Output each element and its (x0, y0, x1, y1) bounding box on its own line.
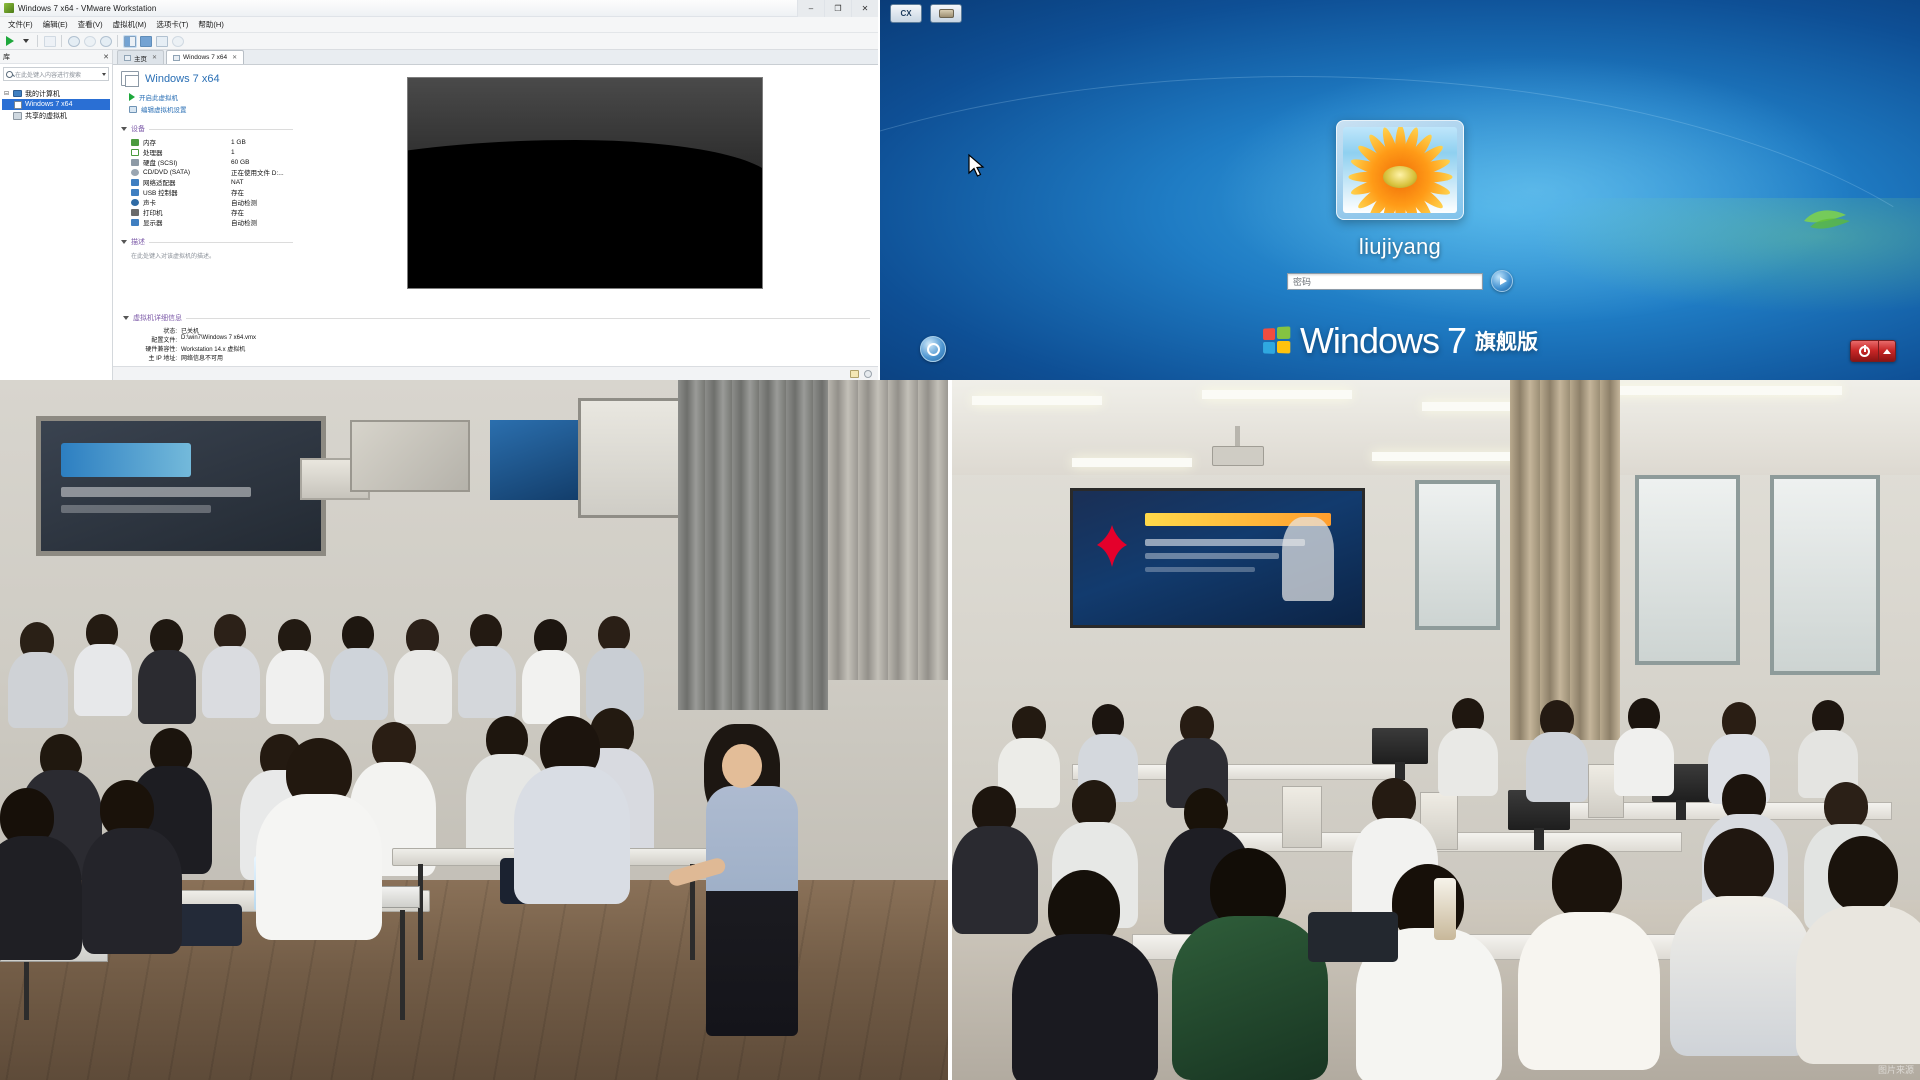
desk-leg (418, 864, 423, 960)
devices-section-header[interactable]: 设备 (121, 124, 293, 134)
lab-window (1635, 475, 1740, 665)
mouse-pointer-cursor (967, 153, 987, 181)
device-row[interactable]: 显示器 自动检测 (121, 217, 293, 227)
close-icon[interactable]: ✕ (103, 53, 109, 61)
menu-edit[interactable]: 编辑(E) (38, 17, 73, 33)
library-header: 库 ✕ (0, 50, 112, 64)
tab-close-icon[interactable]: ✕ (232, 54, 237, 61)
vm-summary-left-column: Windows 7 x64 开启此虚拟机 编辑虚拟机设置 (121, 71, 299, 301)
dropdown-caret-icon[interactable] (18, 34, 33, 48)
window-title: Windows 7 x64 - VMware Workstation (18, 4, 156, 13)
tool-bar (0, 33, 878, 50)
screen-text-line (1145, 553, 1279, 559)
detail-value: Workstation 14.x 虚拟机 (181, 344, 245, 353)
ease-of-access-button[interactable] (920, 336, 946, 362)
revert-snapshot-icon[interactable] (66, 34, 81, 48)
usb-icon (131, 189, 139, 196)
window-curtain (1510, 380, 1620, 740)
student-body (514, 766, 630, 904)
device-name: USB 控制器 (143, 187, 231, 197)
menu-bar: 文件(F) 编辑(E) 查看(V) 虚拟机(M) 选项卡(T) 帮助(H) (0, 17, 878, 33)
device-row[interactable]: USB 控制器 存在 (121, 187, 293, 197)
ease-of-access-icon (927, 343, 940, 356)
projector-mount (1235, 426, 1240, 448)
device-value: 存在 (231, 207, 293, 217)
huawei-logo-icon (1087, 521, 1137, 571)
library-search[interactable]: 在此处键入内容进行搜索 (3, 67, 109, 81)
divider (186, 318, 870, 319)
windows-wordmark: Windows (1300, 320, 1439, 362)
tree-item-label: 共享的虚拟机 (25, 111, 67, 121)
toolbar-divider (61, 35, 62, 47)
vmware-icon (4, 3, 14, 13)
student-body (0, 836, 82, 960)
username-label: liujiyang (1359, 234, 1441, 260)
monitor (1372, 728, 1428, 764)
password-row: 密码 (1287, 270, 1513, 292)
vm-preview-column (299, 71, 870, 301)
student-body (256, 794, 382, 940)
device-row[interactable]: 硬盘 (SCSI) 60 GB (121, 157, 293, 167)
tree-item-label: Windows 7 x64 (25, 101, 72, 108)
sound-icon (131, 199, 139, 206)
network-icon (131, 179, 139, 186)
home-icon (124, 55, 131, 61)
screen-speaker-image (1282, 517, 1334, 601)
toolbar-divider (37, 35, 38, 47)
search-icon (6, 71, 13, 78)
action-label: 编辑虚拟机设置 (141, 104, 187, 114)
search-input[interactable]: 在此处键入内容进行搜索 (15, 70, 100, 79)
go-arrow-icon (1500, 277, 1507, 285)
pc-tower (1282, 786, 1322, 848)
tree-item-my-computer[interactable]: ⊟ 我的计算机 (2, 88, 110, 99)
device-value: 存在 (231, 187, 293, 197)
device-value: 正在使用文件 D:... (231, 167, 293, 177)
detail-value: D:\win7\Windows 7 x64.vmx (181, 335, 256, 344)
tab-close-icon[interactable]: ✕ (152, 54, 157, 61)
preview-black-area (408, 170, 762, 288)
description-input[interactable]: 在此处键入对该虚拟机的描述。 (121, 251, 293, 260)
close-button[interactable]: ✕ (851, 0, 878, 17)
show-library-icon[interactable] (122, 34, 137, 48)
device-name: 显示器 (143, 217, 231, 227)
detail-row-ip: 主 IP 地址: 网络信息不可用 (123, 353, 870, 362)
vm-console-toolbar: CX (890, 4, 962, 23)
submit-login-button[interactable] (1491, 270, 1513, 292)
drink-cup (1434, 878, 1456, 940)
ceiling-light (1072, 458, 1192, 467)
device-name: 硬盘 (SCSI) (143, 157, 231, 167)
menu-help[interactable]: 帮助(H) (193, 17, 228, 33)
instructor-face (722, 744, 762, 788)
lab-window (1770, 475, 1880, 675)
vmware-workstation-window: Windows 7 x64 - VMware Workstation – ❐ ✕… (0, 0, 880, 380)
expander-icon[interactable]: ⊟ (4, 90, 10, 97)
monitor-stand (1534, 828, 1544, 850)
page-title: Windows 7 x64 (145, 73, 220, 85)
detail-value: 已关机 (181, 326, 199, 335)
device-value: NAT (231, 179, 293, 186)
classroom-lecture-photo (0, 380, 952, 1080)
maximize-button[interactable]: ❐ (824, 0, 851, 17)
description-section: 描述 在此处键入对该虚拟机的描述。 (121, 237, 293, 260)
collage-page: Windows 7 x64 - VMware Workstation – ❐ ✕… (0, 0, 1920, 1080)
section-title: 描述 (131, 237, 145, 247)
vm-heading: Windows 7 x64 (121, 71, 293, 86)
lab-window (1415, 480, 1500, 630)
device-row[interactable]: 网络适配器 NAT (121, 177, 293, 187)
vm-icon (14, 101, 22, 109)
harddisk-icon (131, 159, 139, 166)
vm-icon (173, 55, 180, 61)
keyboard-button[interactable] (930, 4, 962, 23)
detail-label: 状态: (123, 326, 181, 335)
minimize-button[interactable]: – (797, 0, 824, 17)
chevron-down-icon[interactable] (121, 240, 127, 244)
display-icon (131, 219, 139, 226)
monitor-stand (1676, 800, 1686, 820)
password-input[interactable]: 密码 (1287, 273, 1483, 290)
avatar[interactable] (1336, 120, 1464, 220)
library-title: 库 (3, 52, 10, 62)
vm-summary-view: Windows 7 x64 开启此虚拟机 编辑虚拟机设置 (113, 65, 878, 307)
tab-label: 主页 (134, 53, 147, 63)
fullscreen-icon[interactable] (154, 34, 169, 48)
watermark: 图片来源 (1878, 1063, 1914, 1076)
ceiling-light (1202, 390, 1352, 399)
section-title: 虚拟机详细信息 (133, 313, 182, 323)
tree-item-label: 我的计算机 (25, 89, 60, 99)
unity-icon[interactable] (170, 34, 185, 48)
windows7-login-screen: CX (880, 0, 1920, 380)
ceiling-light (1612, 386, 1842, 395)
backpack (1308, 912, 1398, 962)
student-body (82, 828, 182, 954)
device-value: 1 (231, 149, 293, 156)
desk-leg (400, 910, 405, 1020)
description-section-header[interactable]: 描述 (121, 237, 293, 247)
detail-row-hw-compat: 硬件兼容性: Workstation 14.x 虚拟机 (123, 344, 870, 353)
device-row[interactable]: 打印机 存在 (121, 207, 293, 217)
cpu-icon (131, 149, 139, 156)
console-view-icon[interactable] (138, 34, 153, 48)
tree-item-shared-vms[interactable]: 共享的虚拟机 (2, 110, 110, 121)
detail-row-config-file: 配置文件: D:\win7\Windows 7 x64.vmx (123, 335, 870, 344)
devices-section: 设备 内存 1 GB 处理器 1 (121, 124, 293, 227)
vmware-main-pane: 主页 ✕ Windows 7 x64 ✕ Windows 7 x64 (113, 50, 878, 380)
vmware-title-bar: Windows 7 x64 - VMware Workstation – ❐ ✕ (0, 0, 878, 17)
edit-vm-settings-link[interactable]: 编辑虚拟机设置 (129, 104, 293, 114)
device-name: 内存 (143, 137, 231, 147)
device-name: 声卡 (143, 197, 231, 207)
details-section-header[interactable]: 虚拟机详细信息 (123, 313, 870, 323)
device-name: 打印机 (143, 207, 231, 217)
section-title: 设备 (131, 124, 145, 134)
vm-details-section: 虚拟机详细信息 状态: 已关机 配置文件: D:\win7\Windows 7 … (113, 313, 878, 366)
chevron-down-icon[interactable] (121, 127, 127, 131)
detail-label: 硬件兼容性: (123, 344, 181, 353)
device-value: 自动检测 (231, 217, 293, 227)
detail-label: 配置文件: (123, 335, 181, 344)
divider (149, 129, 293, 130)
windows-branding: Windows 7 旗舰版 (880, 320, 1920, 362)
chevron-down-icon[interactable] (102, 73, 106, 76)
chevron-down-icon[interactable] (123, 316, 129, 320)
window-controls: – ❐ ✕ (797, 0, 878, 17)
device-row[interactable]: 声卡 自动检测 (121, 197, 293, 207)
ctrl-alt-del-button[interactable]: CX (890, 4, 922, 23)
windows-edition: 旗舰版 (1475, 326, 1538, 356)
board-text-line (61, 487, 251, 497)
library-pane: 库 ✕ 在此处键入内容进行搜索 ⊟ 我的计算机 Win (0, 50, 113, 380)
classroom-display-board (36, 416, 326, 556)
tab-home[interactable]: 主页 ✕ (117, 50, 164, 64)
cd-icon (131, 169, 139, 176)
windows-version: 7 (1447, 320, 1467, 362)
instructor-body (706, 786, 798, 1036)
device-name: CD/DVD (SATA) (143, 169, 231, 176)
take-snapshot-icon[interactable] (82, 34, 97, 48)
ceiling-projector (1212, 446, 1264, 466)
ceiling-light (972, 396, 1102, 405)
status-bar (113, 366, 878, 380)
shared-vm-icon (13, 112, 22, 120)
vm-icon (121, 71, 139, 86)
toolbar-divider (117, 35, 118, 47)
divider (149, 242, 293, 243)
detail-label: 主 IP 地址: (123, 353, 181, 362)
menu-tabs[interactable]: 选项卡(T) (151, 17, 193, 33)
device-name: 处理器 (143, 147, 231, 157)
board-text-line (61, 505, 211, 513)
photo-row (0, 380, 1920, 1080)
tab-windows7-x64[interactable]: Windows 7 x64 ✕ (166, 50, 244, 64)
wall-poster (350, 420, 470, 492)
device-value: 自动检测 (231, 197, 293, 207)
message-log-icon[interactable] (850, 370, 859, 378)
menu-file[interactable]: 文件(F) (3, 17, 38, 33)
device-value: 1 GB (231, 139, 293, 146)
device-row[interactable]: CD/DVD (SATA) 正在使用文件 D:... (121, 167, 293, 177)
windows-flag-logo (1263, 326, 1292, 356)
computer-icon (13, 90, 22, 97)
menu-view[interactable]: 查看(V) (73, 17, 108, 33)
settings-icon (129, 106, 137, 113)
device-value: 60 GB (231, 159, 293, 166)
screen-text-line (1145, 539, 1305, 546)
play-icon[interactable] (2, 34, 17, 48)
detail-value: 网络信息不可用 (181, 353, 223, 362)
orange-gerbera-flower-avatar (1343, 127, 1457, 213)
tree-item-windows7-x64[interactable]: Windows 7 x64 (2, 99, 110, 110)
tab-bar: 主页 ✕ Windows 7 x64 ✕ (113, 50, 878, 65)
device-name: 网络适配器 (143, 177, 231, 187)
power-on-vm-link[interactable]: 开启此虚拟机 (129, 92, 293, 102)
snapshot-manager-icon[interactable] (98, 34, 113, 48)
action-label: 开启此虚拟机 (139, 92, 178, 102)
updates-icon[interactable] (864, 370, 872, 378)
flower-center (1383, 166, 1417, 188)
tab-label: Windows 7 x64 (183, 54, 227, 61)
login-panel: liujiyang 密码 (880, 120, 1920, 292)
vmware-body: 库 ✕ 在此处键入内容进行搜索 ⊟ 我的计算机 Win (0, 50, 878, 380)
window-curtain (678, 380, 828, 710)
device-row[interactable]: 内存 1 GB (121, 137, 293, 147)
detail-row-state: 状态: 已关机 (123, 326, 870, 335)
memory-icon (131, 139, 139, 146)
board-logo (61, 443, 191, 477)
vm-screen-preview[interactable] (407, 77, 763, 289)
play-icon (129, 93, 135, 101)
snapshot-icon[interactable] (42, 34, 57, 48)
library-tree: ⊟ 我的计算机 Windows 7 x64 共享的虚拟机 (0, 84, 112, 125)
presentation-screen (1070, 488, 1365, 628)
screen-text-line (1145, 567, 1255, 572)
device-row[interactable]: 处理器 1 (121, 147, 293, 157)
computer-lab-photo (952, 380, 1920, 1080)
keyboard-icon (939, 9, 954, 18)
window-curtain (828, 380, 948, 680)
menu-vm[interactable]: 虚拟机(M) (108, 17, 152, 33)
printer-icon (131, 209, 139, 216)
